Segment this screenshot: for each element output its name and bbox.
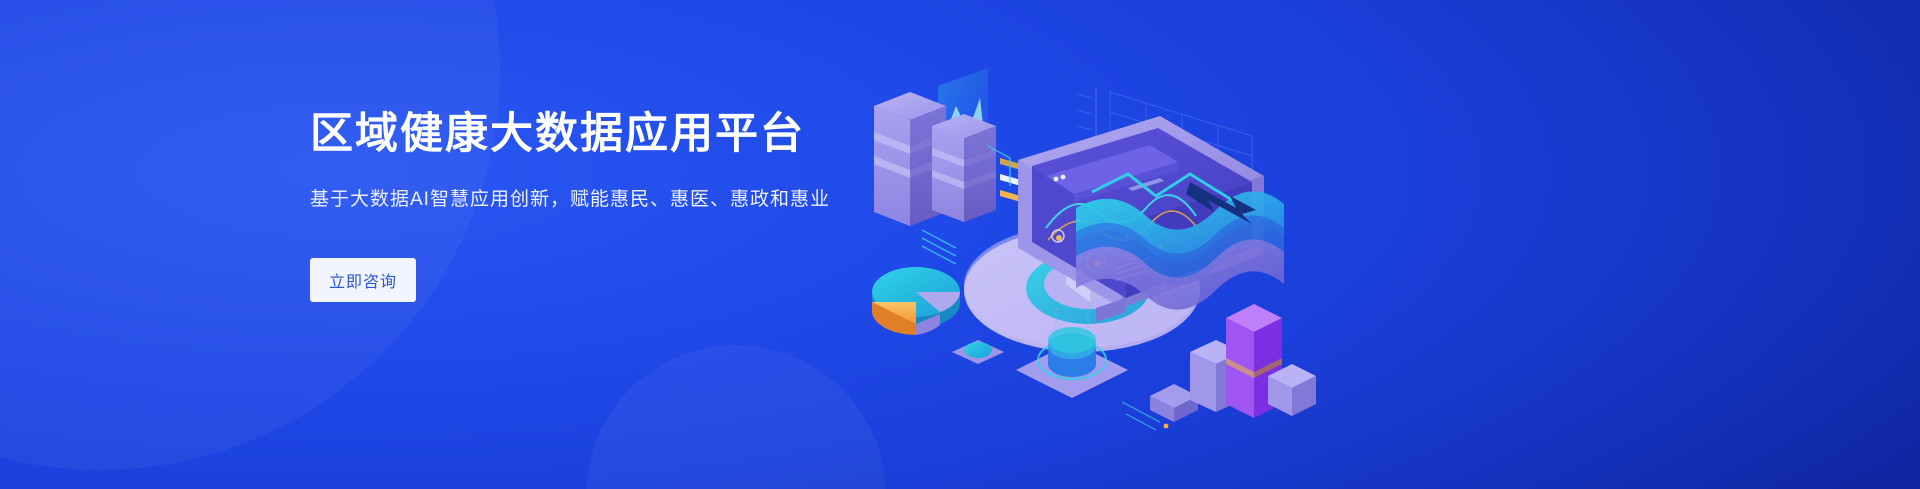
small-tile-icon	[952, 340, 1004, 364]
hero-banner: 区域健康大数据应用平台 基于大数据AI智慧应用创新，赋能惠民、惠医、惠政和惠业 …	[0, 0, 1920, 489]
decorative-circle-bottom-center	[586, 345, 886, 489]
consult-now-button[interactable]: 立即咨询	[310, 258, 416, 302]
server-rack-short-icon	[932, 114, 996, 222]
illustration-isometric-data-platform	[860, 40, 1300, 460]
pie-chart-3d-icon	[872, 267, 960, 335]
